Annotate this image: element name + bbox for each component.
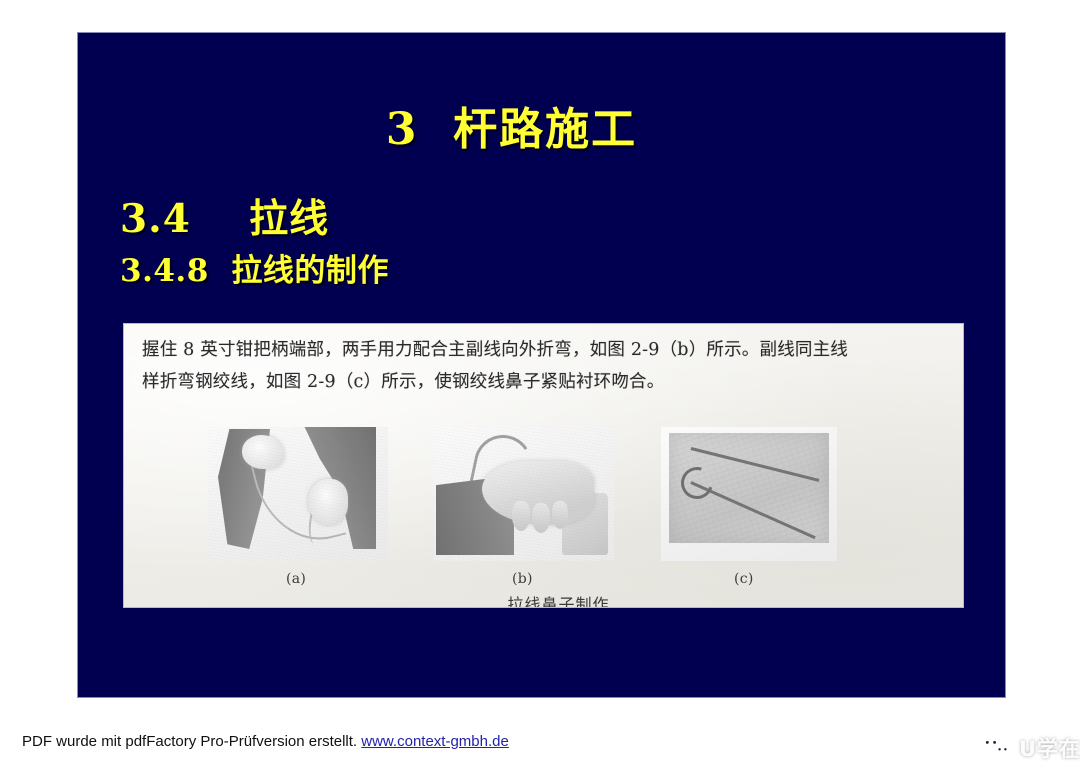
slide-panel: 3 杆路施工 3.4 拉线 3.4.8 拉线的制作 握住 8 英寸钳把柄端部，两…	[78, 33, 1005, 697]
watermark-label: U学在线	[1019, 733, 1080, 763]
watermark: U学在线	[979, 733, 1080, 763]
scan-text-line-1: 握住 8 英寸钳把柄端部，两手用力配合主副线向外折弯，如图 2-9（b）所示。副…	[142, 336, 953, 361]
footer-text: PDF wurde mit pdfFactory Pro-Prüfversion…	[22, 733, 361, 750]
scan-text-line-2: 样折弯钢绞线，如图 2-9（c）所示，使钢绞线鼻子紧贴衬环吻合。	[142, 368, 953, 393]
page-title: 3 杆路施工	[78, 93, 1005, 157]
figure-photo-a	[208, 427, 388, 561]
figure-label-a: (a)	[286, 571, 306, 587]
wechat-icon	[979, 735, 1013, 761]
footer-link[interactable]: www.context-gmbh.de	[361, 733, 509, 750]
footer: PDF wurde mit pdfFactory Pro-Prüfversion…	[22, 733, 509, 750]
figure-label-c: (c)	[734, 571, 754, 587]
photo-c-panel	[669, 433, 829, 543]
figure-photo-b	[434, 427, 614, 561]
figure-caption: 拉线鼻子制作	[124, 591, 963, 607]
subsection-heading: 3.4.8 拉线的制作	[120, 245, 389, 290]
photo-b-grain	[434, 427, 614, 561]
section-heading: 3.4 拉线	[120, 188, 329, 244]
scanned-content-card: 握住 8 英寸钳把柄端部，两手用力配合主副线向外折弯，如图 2-9（b）所示。副…	[124, 324, 963, 607]
photo-a-grain	[208, 427, 388, 561]
figure-photo-c	[661, 427, 837, 561]
figure-label-b: (b)	[512, 571, 533, 587]
